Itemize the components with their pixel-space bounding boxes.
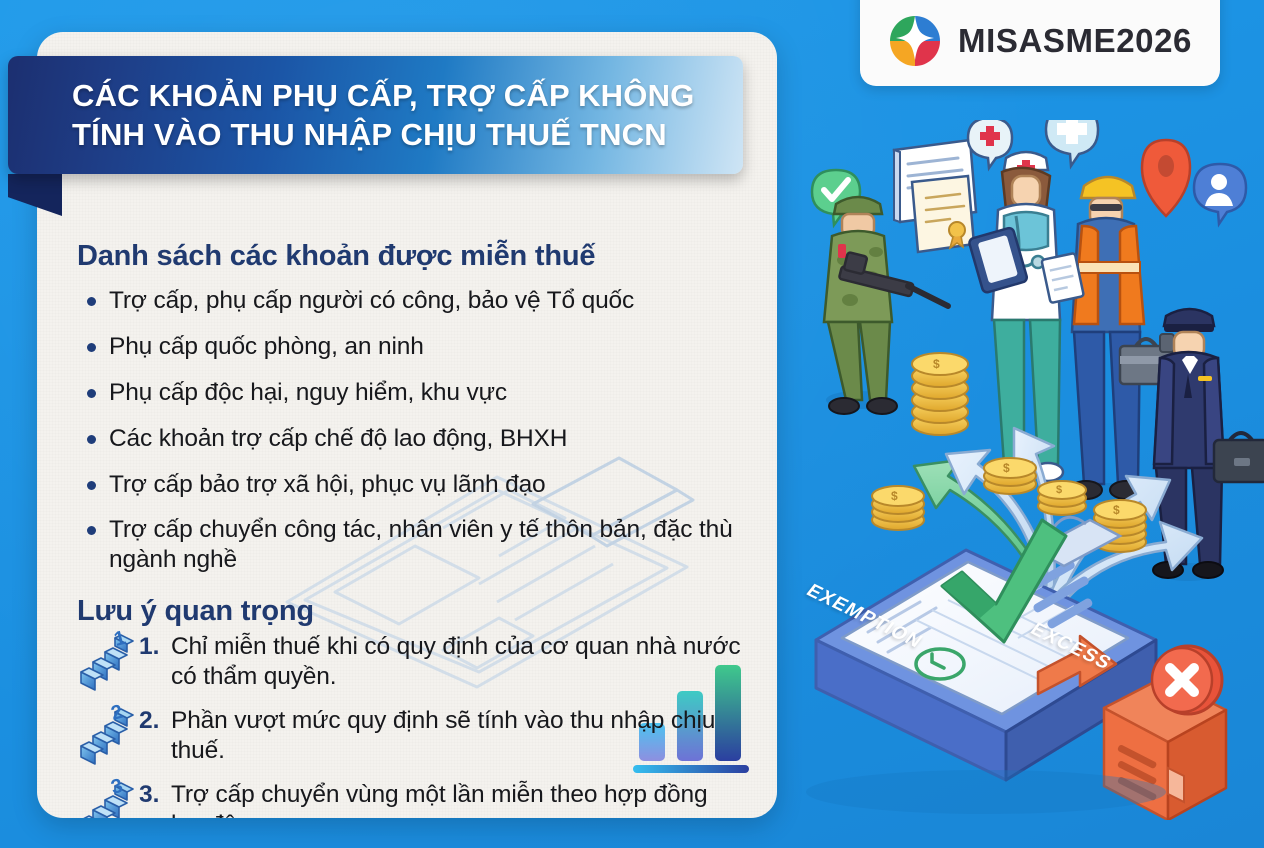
user-profile-icon bbox=[1194, 164, 1246, 224]
svg-text:1: 1 bbox=[112, 630, 128, 651]
note-number: 3. bbox=[139, 781, 159, 809]
list-item: Các khoản trợ cấp chế độ lao động, BHXH bbox=[71, 424, 743, 454]
list-item: Trợ cấp, phụ cấp người có công, bảo vệ T… bbox=[71, 286, 743, 316]
note-number: 1. bbox=[139, 633, 159, 661]
red-x-badge-icon bbox=[1152, 646, 1222, 714]
list-item: Phụ cấp độc hại, nguy hiểm, khu vực bbox=[71, 378, 743, 408]
title-line-1: CÁC KHOẢN PHỤ CẤP, TRỢ CẤP KHÔNG bbox=[72, 78, 694, 113]
svg-text:$: $ bbox=[1003, 461, 1010, 475]
note-item: 1 1. Chỉ miễn thuế khi có quy định của c… bbox=[71, 630, 743, 698]
stairs-step-1-icon: 1 bbox=[75, 630, 137, 696]
svg-text:$: $ bbox=[1113, 503, 1120, 517]
svg-text:$: $ bbox=[933, 357, 940, 371]
illustration-svg: $ $ $ bbox=[790, 120, 1264, 820]
note-text: Trợ cấp chuyển vùng một lần miễn theo hợ… bbox=[171, 778, 743, 818]
exempt-items-list: Trợ cấp, phụ cấp người có công, bảo vệ T… bbox=[71, 286, 743, 575]
list-item: Trợ cấp chuyển công tác, nhân viên y tế … bbox=[71, 515, 743, 575]
stairs-step-3-icon: 3 bbox=[75, 778, 137, 818]
list-item: Phụ cấp quốc phòng, an ninh bbox=[71, 332, 743, 362]
misa-four-quadrant-star-logo bbox=[888, 14, 942, 68]
health-plus-icon bbox=[1046, 120, 1098, 166]
location-pin-icon bbox=[1142, 140, 1190, 216]
notes-heading: Lưu ý quan trọng bbox=[77, 595, 743, 628]
important-notes-list: 1 1. Chỉ miễn thuế khi có quy định của c… bbox=[71, 630, 743, 818]
note-item: 3 3. Trợ cấp chuyển vùng một lần miễn th… bbox=[71, 778, 743, 818]
brand-logo: MISASME2026 bbox=[860, 0, 1220, 86]
isometric-tax-exemption-scene: $ $ $ bbox=[790, 120, 1264, 820]
infographic-canvas: Danh sách các khoản được miễn thuế Trợ c… bbox=[0, 0, 1264, 848]
note-text: Phần vượt mức quy định sẽ tính vào thu n… bbox=[171, 704, 743, 766]
list-heading: Danh sách các khoản được miễn thuế bbox=[77, 240, 743, 273]
title-banner: CÁC KHOẢN PHỤ CẤP, TRỢ CẤP KHÔNG TÍNH VÀ… bbox=[8, 56, 743, 174]
briefcase-icon bbox=[1214, 433, 1264, 482]
page-title: CÁC KHOẢN PHỤ CẤP, TRỢ CẤP KHÔNG TÍNH VÀ… bbox=[8, 76, 714, 154]
svg-text:3: 3 bbox=[109, 778, 125, 799]
ribbon-fold bbox=[8, 174, 62, 216]
svg-text:$: $ bbox=[1056, 484, 1062, 496]
note-text: Chỉ miễn thuế khi có quy định của cơ qua… bbox=[171, 630, 743, 692]
svg-text:$: $ bbox=[891, 489, 898, 503]
stairs-step-2-icon: 2 bbox=[75, 704, 137, 770]
list-item: Trợ cấp bảo trợ xã hội, phục vụ lãnh đạo bbox=[71, 470, 743, 500]
diploma-icon bbox=[912, 176, 974, 252]
svg-text:2: 2 bbox=[109, 704, 125, 725]
note-number: 2. bbox=[139, 707, 159, 735]
title-line-2: TÍNH VÀO THU NHẬP CHỊU THUẾ TNCN bbox=[72, 115, 694, 154]
brand-wordmark: MISASME2026 bbox=[958, 22, 1192, 60]
card-body: Danh sách các khoản được miễn thuế Trợ c… bbox=[37, 192, 777, 818]
note-item: 2 2. Phần vượt mức quy định sẽ tính vào … bbox=[71, 704, 743, 772]
